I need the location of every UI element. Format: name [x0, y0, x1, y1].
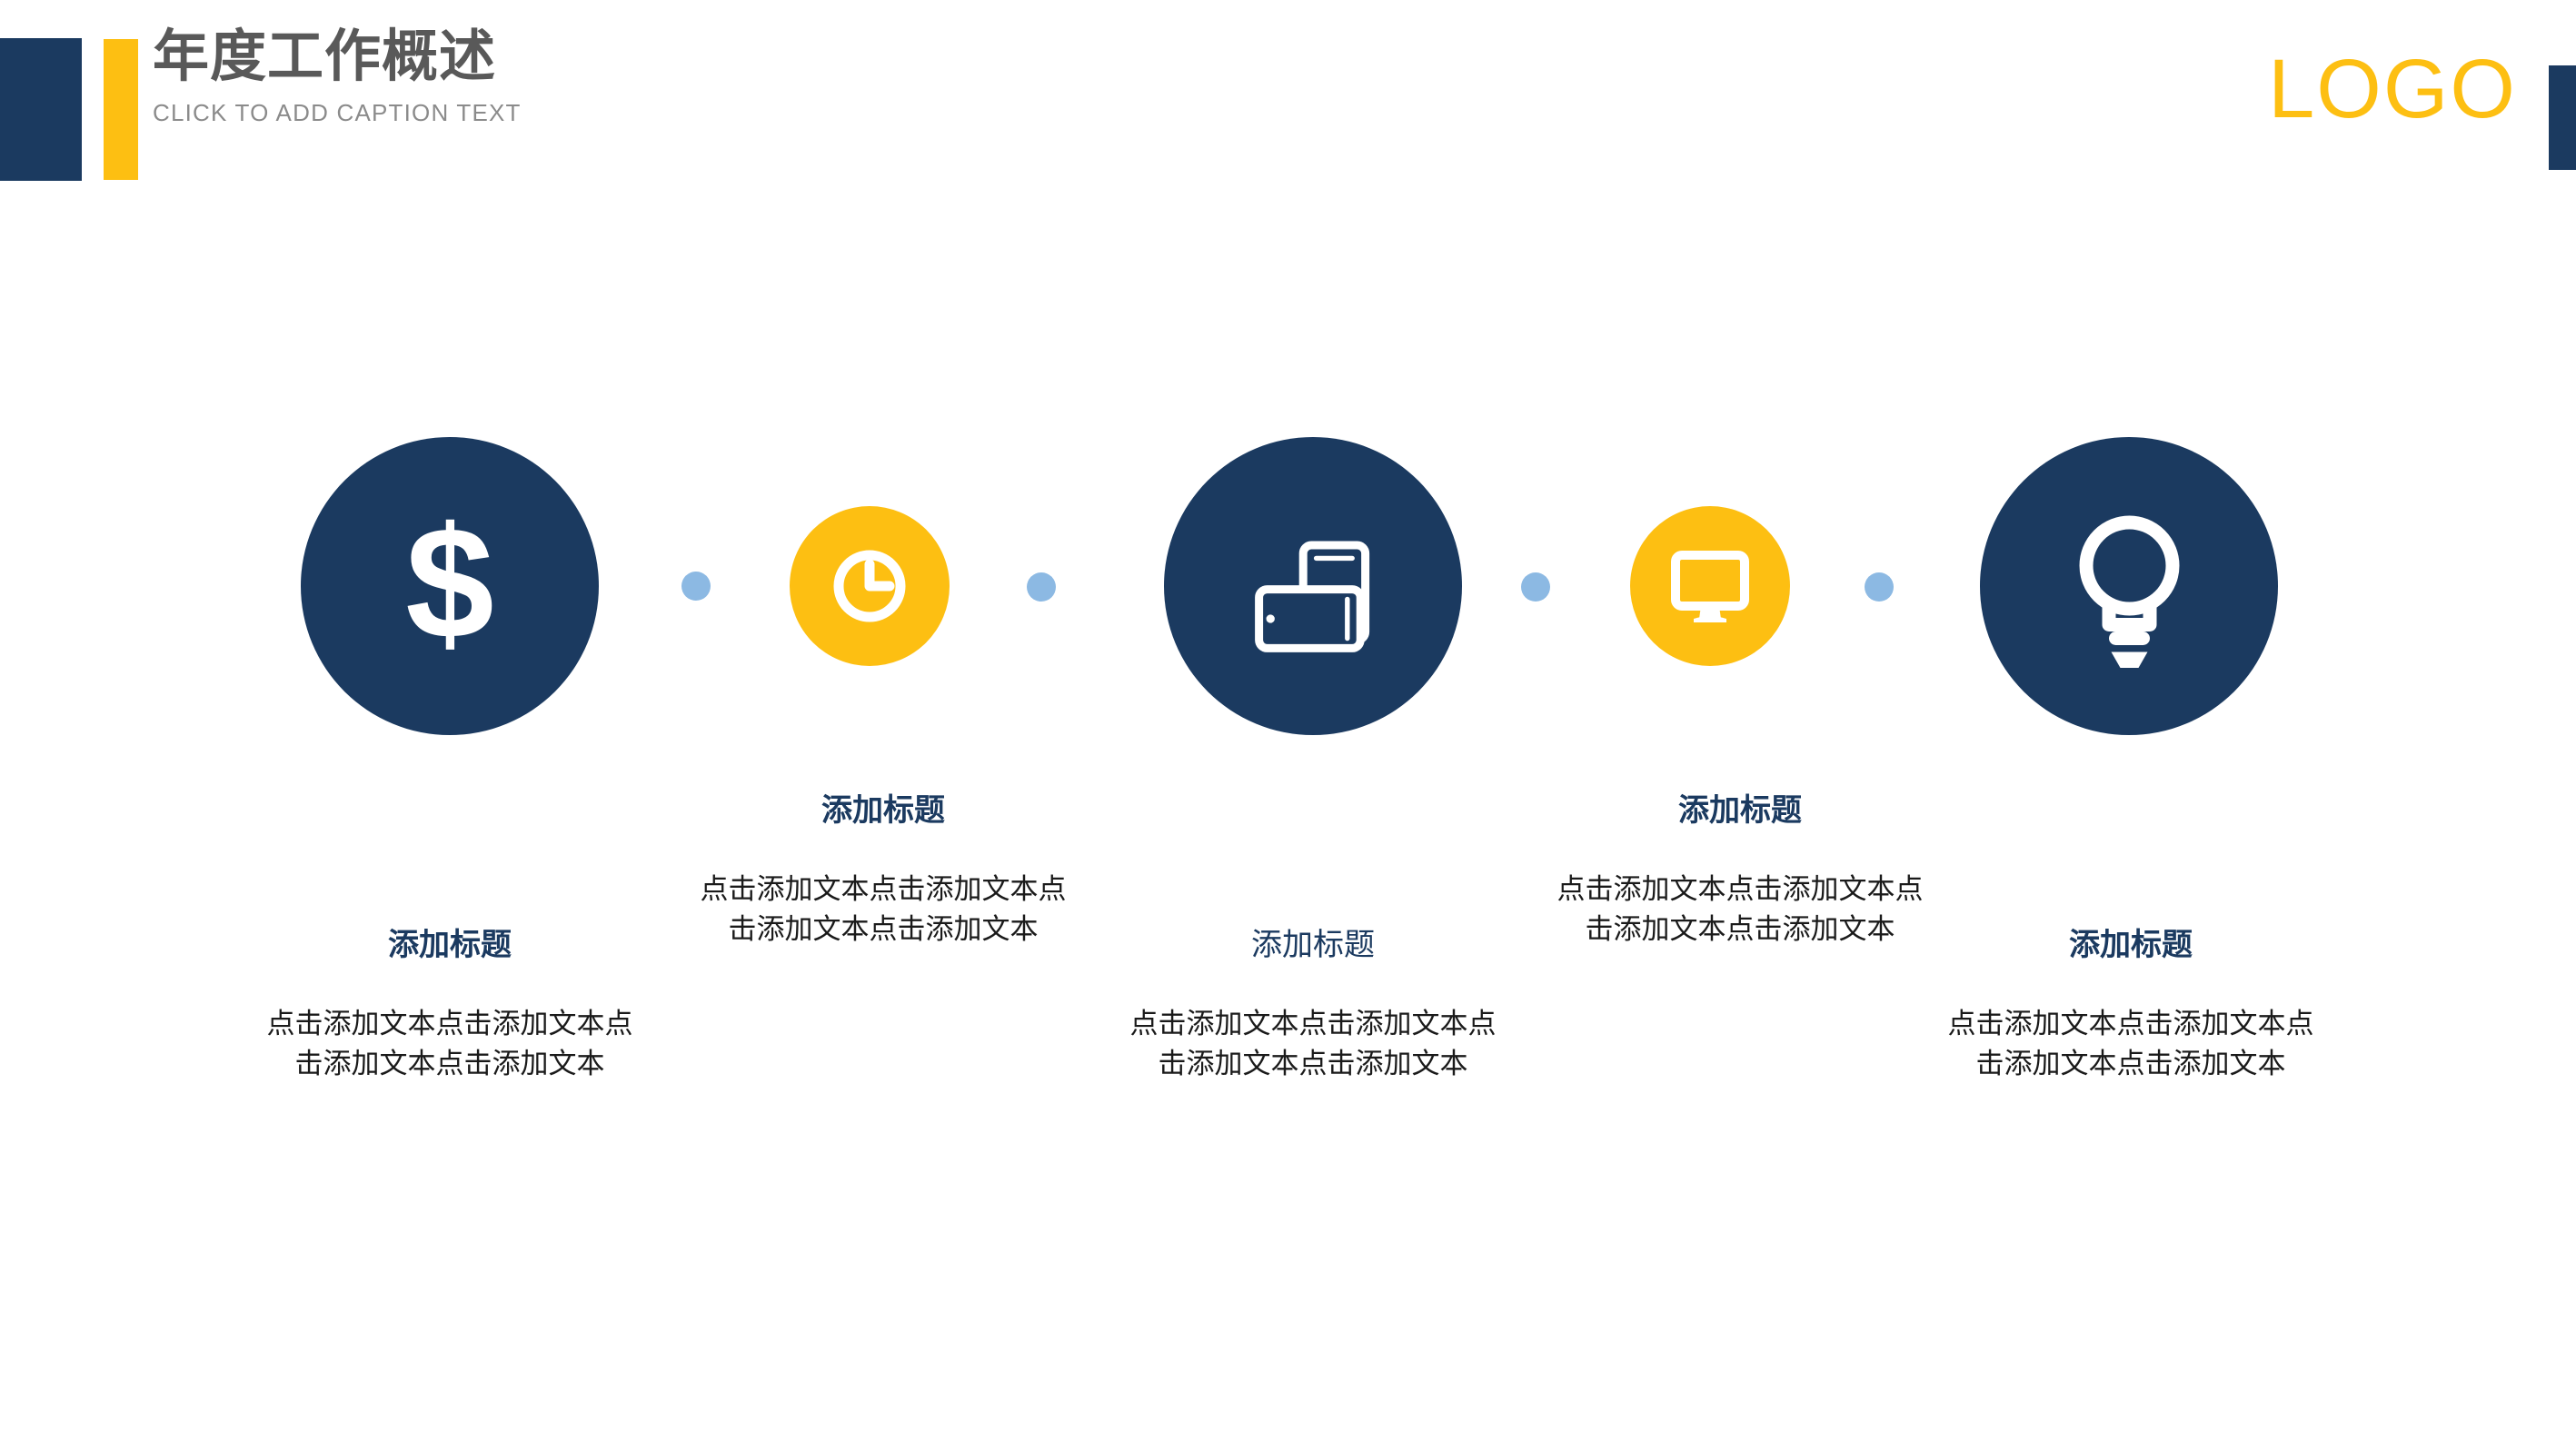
step-circle-2[interactable] — [790, 506, 950, 666]
step-title-2: 添加标题 — [692, 792, 1074, 830]
step-body-5: 点击添加文本点击添加文本点击添加文本点击添加文本 — [1940, 1004, 2322, 1084]
step-text-1: 添加标题 点击添加文本点击添加文本点击添加文本点击添加文本 — [259, 927, 641, 1084]
step-title-5: 添加标题 — [1940, 927, 2322, 964]
page-title: 年度工作概述 — [153, 25, 1425, 88]
step-body-1: 点击添加文本点击添加文本点击添加文本点击添加文本 — [259, 1004, 641, 1084]
step-title-1: 添加标题 — [259, 927, 641, 964]
connector-dot-3 — [1521, 572, 1550, 602]
step-body-4: 点击添加文本点击添加文本点击添加文本点击添加文本 — [1549, 870, 1931, 950]
slide-canvas: 年度工作概述 CLICK TO ADD CAPTION TEXT LOGO $ — [0, 0, 2576, 1442]
step-text-5: 添加标题 点击添加文本点击添加文本点击添加文本点击添加文本 — [1940, 927, 2322, 1084]
step-text-2: 添加标题 点击添加文本点击添加文本点击添加文本点击添加文本 — [692, 792, 1074, 950]
step-circle-3[interactable] — [1164, 437, 1462, 735]
step-circle-4[interactable] — [1630, 506, 1790, 666]
header-text-group: 年度工作概述 CLICK TO ADD CAPTION TEXT — [153, 25, 1425, 127]
svg-text:$: $ — [405, 504, 493, 668]
header-accent-block-right — [2549, 65, 2576, 170]
step-circle-1[interactable]: $ — [301, 437, 599, 735]
step-text-4: 添加标题 点击添加文本点击添加文本点击添加文本点击添加文本 — [1549, 792, 1931, 950]
monitor-icon — [1665, 542, 1755, 630]
page-subtitle: CLICK TO ADD CAPTION TEXT — [153, 99, 1425, 127]
header-accent-bar-yellow — [104, 39, 138, 180]
connector-dot-2 — [1027, 572, 1056, 602]
lightbulb-icon — [2050, 500, 2209, 672]
header-accent-block-navy — [0, 38, 82, 181]
step-text-3: 添加标题 点击添加文本点击添加文本点击添加文本点击添加文本 — [1122, 927, 1504, 1084]
logo-text: LOGO — [2268, 47, 2517, 131]
clock-icon — [826, 542, 913, 630]
step-title-4: 添加标题 — [1549, 792, 1931, 830]
dollar-icon: $ — [382, 504, 518, 668]
step-body-2: 点击添加文本点击添加文本点击添加文本点击添加文本 — [692, 870, 1074, 950]
connector-dot-4 — [1865, 572, 1894, 602]
devices-icon — [1231, 504, 1395, 668]
step-circle-5[interactable] — [1980, 437, 2278, 735]
connector-dot-1 — [681, 572, 711, 601]
step-body-3: 点击添加文本点击添加文本点击添加文本点击添加文本 — [1122, 1004, 1504, 1084]
step-title-3: 添加标题 — [1122, 927, 1504, 964]
